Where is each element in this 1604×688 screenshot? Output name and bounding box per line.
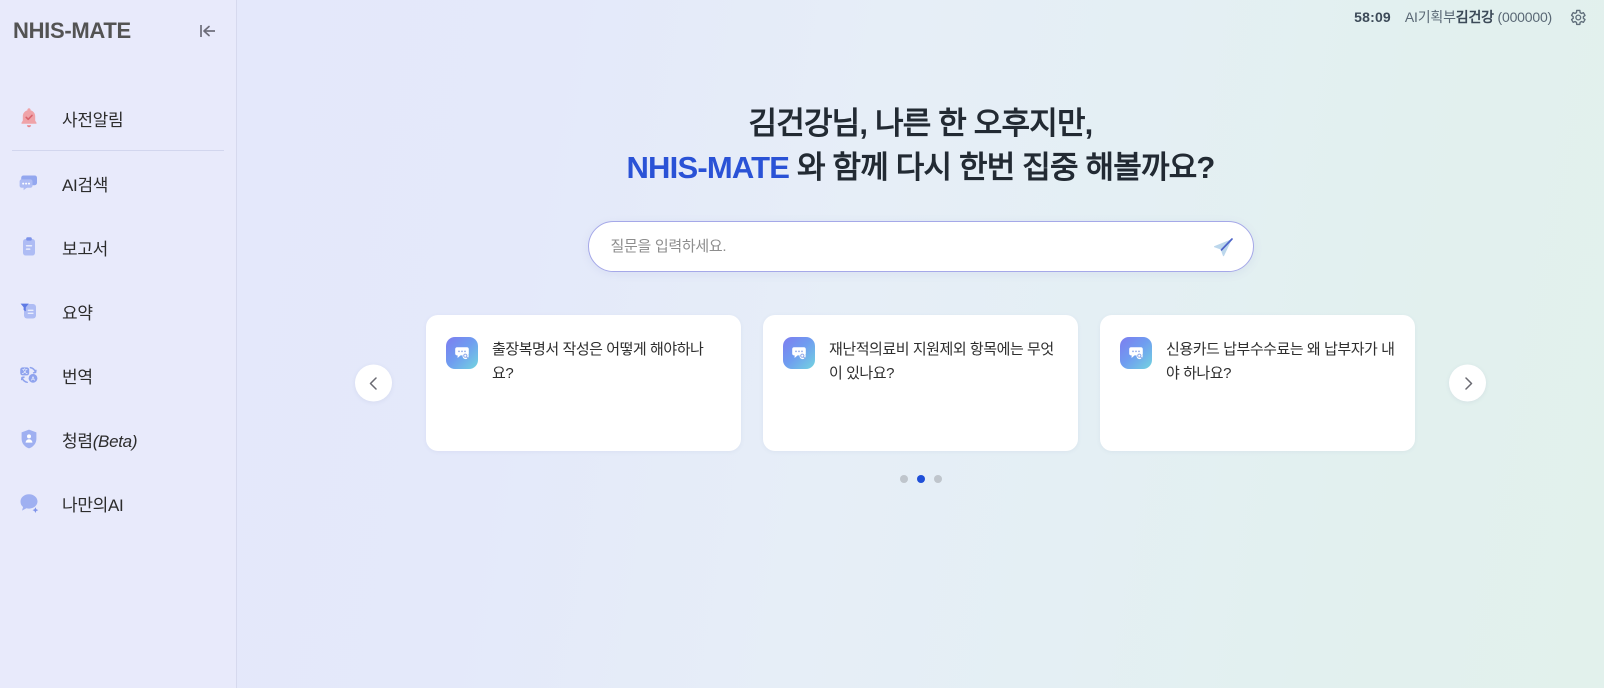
main-content: 58:09 AI기획부김건강 (000000) 김건강님, 나른 한 오후지만,…: [237, 0, 1604, 688]
carousel-dot[interactable]: [900, 475, 908, 483]
collapse-sidebar-button[interactable]: [194, 17, 222, 45]
user-id: (000000): [1498, 9, 1552, 25]
sidebar-item-label: 요약: [62, 299, 93, 324]
collapse-left-icon: [198, 23, 218, 39]
carousel-dot[interactable]: [934, 475, 942, 483]
topbar: 58:09 AI기획부김건강 (000000): [237, 0, 1604, 34]
sidebar-item-label: AI검색: [62, 171, 108, 196]
user-name: 김건강: [1456, 9, 1494, 25]
chat-search-icon: [14, 168, 44, 198]
suggestion-carousel: 출장복명서 작성은 어떻게 해야하나요? 재난적의료비 지원제외 항목에는 무엇…: [237, 315, 1604, 451]
chat-bubble-icon: [1120, 337, 1152, 369]
headline-line-1: 김건강님, 나른 한 오후지만,: [237, 102, 1604, 146]
sidebar-item-label: 나만의AI: [62, 491, 123, 516]
send-paper-plane-icon: [1211, 235, 1235, 259]
suggestion-cards: 출장복명서 작성은 어떻게 해야하나요? 재난적의료비 지원제외 항목에는 무엇…: [237, 315, 1604, 451]
bell-check-icon: [14, 103, 44, 133]
chat-sparkle-icon: [14, 488, 44, 518]
svg-text:文: 文: [22, 368, 28, 376]
funnel-summary-icon: [14, 296, 44, 326]
translate-icon: 文 A: [14, 360, 44, 390]
suggestion-card[interactable]: 출장복명서 작성은 어떻게 해야하나요?: [426, 315, 741, 451]
gear-icon: [1568, 8, 1587, 27]
search-box[interactable]: [588, 221, 1254, 272]
sidebar-item-ai-search[interactable]: AI검색: [0, 151, 236, 215]
carousel-dot[interactable]: [917, 475, 925, 483]
send-button[interactable]: [1210, 234, 1236, 260]
sidebar-item-integrity[interactable]: 청렴(Beta): [0, 407, 236, 471]
sidebar: NHIS-MATE 사전알림: [0, 0, 237, 688]
sidebar-item-notification[interactable]: 사전알림: [0, 86, 236, 150]
carousel-pagination: [237, 475, 1604, 483]
sidebar-item-translate[interactable]: 文 A 번역: [0, 343, 236, 407]
svg-text:A: A: [31, 376, 35, 382]
clipboard-report-icon: [14, 232, 44, 262]
suggestion-card-text: 출장복명서 작성은 어떻게 해야하나요?: [492, 337, 721, 451]
settings-button[interactable]: [1566, 6, 1588, 28]
page-title: 김건강님, 나른 한 오후지만, NHIS-MATE 와 함께 다시 한번 집중…: [237, 102, 1604, 190]
user-info: AI기획부김건강 (000000): [1405, 7, 1552, 27]
sidebar-header: NHIS-MATE: [0, 0, 236, 62]
chat-bubble-icon: [446, 337, 478, 369]
suggestion-card-text: 신용카드 납부수수료는 왜 납부자가 내야 하나요?: [1166, 337, 1395, 451]
sidebar-item-label: 번역: [62, 363, 93, 388]
chevron-left-icon: [366, 375, 382, 391]
carousel-next-button[interactable]: [1449, 365, 1486, 402]
suggestion-card[interactable]: 재난적의료비 지원제외 항목에는 무엇이 있나요?: [763, 315, 1078, 451]
headline-line-2: NHIS-MATE 와 함께 다시 한번 집중 해볼까요?: [237, 146, 1604, 190]
sidebar-item-label: 사전알림: [62, 106, 123, 131]
search-container: [588, 221, 1254, 272]
sidebar-item-my-ai[interactable]: 나만의AI: [0, 471, 236, 535]
search-input[interactable]: [611, 238, 1201, 255]
user-dept: AI기획부: [1405, 9, 1456, 25]
carousel-prev-button[interactable]: [355, 365, 392, 402]
session-timer: 58:09: [1354, 9, 1391, 25]
headline-brand: NHIS-MATE: [626, 150, 789, 185]
chat-bubble-icon: [783, 337, 815, 369]
sidebar-nav: 사전알림 AI검색: [0, 62, 236, 535]
shield-person-icon: [14, 424, 44, 454]
chevron-right-icon: [1460, 375, 1476, 391]
sidebar-item-label: 청렴(Beta): [62, 427, 137, 452]
sidebar-item-report[interactable]: 보고서: [0, 215, 236, 279]
sidebar-item-summary[interactable]: 요약: [0, 279, 236, 343]
suggestion-card[interactable]: 신용카드 납부수수료는 왜 납부자가 내야 하나요?: [1100, 315, 1415, 451]
headline-rest: 와 함께 다시 한번 집중 해볼까요?: [789, 150, 1214, 185]
suggestion-card-text: 재난적의료비 지원제외 항목에는 무엇이 있나요?: [829, 337, 1058, 451]
sidebar-item-label: 보고서: [62, 235, 108, 260]
app-brand-title: NHIS-MATE: [13, 18, 194, 44]
